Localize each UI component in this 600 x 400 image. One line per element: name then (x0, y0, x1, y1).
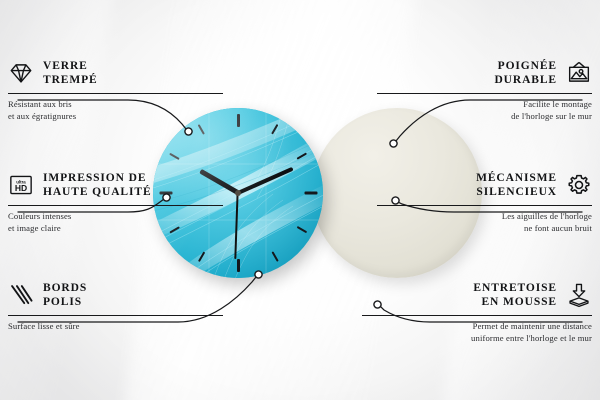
feature-title: IMPRESSION DE HAUTE QUALITÉ (43, 171, 152, 199)
feature-title-line2: SILENCIEUX (476, 186, 557, 198)
feature-verre-trempe[interactable]: VERRE TREMPÉ Résistant aux bris et aux é… (8, 56, 223, 122)
polished-edges-icon (8, 282, 34, 308)
feature-subtitle-line1: Permet de maintenir une distance (473, 321, 592, 331)
feature-mecanisme-silencieux[interactable]: MÉCANISME SILENCIEUX Les aiguilles de l'… (377, 168, 592, 234)
feature-title: VERRE TREMPÉ (43, 59, 98, 87)
feature-subtitle-line2: et aux égratignures (8, 111, 76, 121)
feature-subtitle: Résistant aux bris et aux égratignures (8, 98, 223, 122)
feature-divider (8, 315, 223, 316)
feature-title-line2: EN MOUSSE (481, 296, 557, 308)
feature-title-line2: POLIS (43, 296, 82, 308)
feature-subtitle-line1: Surface lisse et sûre (8, 321, 80, 331)
feature-header: POIGNÉE DURABLE (377, 56, 592, 90)
gear-icon (566, 172, 592, 198)
feature-title: ENTRETOISE EN MOUSSE (473, 281, 557, 309)
foam-spacer-icon (566, 282, 592, 308)
feature-header: ultra HD IMPRESSION DE HAUTE QUALITÉ (8, 168, 223, 202)
feature-subtitle-line1: Les aiguilles de l'horloge (502, 211, 592, 221)
clock-tick-12 (237, 114, 240, 127)
feature-title-line2: HAUTE QUALITÉ (43, 186, 152, 198)
feature-subtitle-line2: uniforme entre l'horloge et le mur (471, 333, 592, 343)
clock-tick-3 (304, 192, 317, 195)
hanging-frame-icon (566, 60, 592, 86)
feature-subtitle-line1: Résistant aux bris (8, 99, 72, 109)
feature-subtitle: Permet de maintenir une distance uniform… (362, 320, 592, 344)
feature-title: BORDS POLIS (43, 281, 87, 309)
feature-title: POIGNÉE DURABLE (494, 59, 557, 87)
feature-title: MÉCANISME SILENCIEUX (476, 171, 557, 199)
feature-header: BORDS POLIS (8, 278, 223, 312)
feature-subtitle: Facilite le montage de l'horloge sur le … (377, 98, 592, 122)
feature-header: VERRE TREMPÉ (8, 56, 223, 90)
feature-subtitle-line1: Facilite le montage (523, 99, 592, 109)
feature-title-line1: VERRE (43, 60, 88, 72)
feature-header: ENTRETOISE EN MOUSSE (362, 278, 592, 312)
clock-center-cap (235, 190, 241, 196)
feature-title-line1: ENTRETOISE (473, 282, 557, 294)
feature-title-line1: IMPRESSION DE (43, 172, 146, 184)
feature-divider (377, 93, 592, 94)
feature-subtitle: Couleurs intenses et image claire (8, 210, 223, 234)
feature-subtitle: Surface lisse et sûre (8, 320, 223, 332)
feature-poignee-durable[interactable]: POIGNÉE DURABLE Facilite le montage de l… (377, 56, 592, 122)
feature-subtitle-line2: de l'horloge sur le mur (511, 111, 592, 121)
feature-subtitle-line2: ne font aucun bruit (524, 223, 592, 233)
feature-divider (8, 205, 223, 206)
clock-tick-6 (237, 259, 240, 272)
feature-title-line1: BORDS (43, 282, 87, 294)
feature-divider (362, 315, 592, 316)
diamond-icon (8, 60, 34, 86)
feature-subtitle-line1: Couleurs intenses (8, 211, 71, 221)
svg-text:HD: HD (15, 183, 27, 193)
ultra-hd-icon: ultra HD (8, 172, 34, 198)
feature-title-line2: TREMPÉ (43, 74, 98, 86)
infographic-canvas: VERRE TREMPÉ Résistant aux bris et aux é… (0, 0, 600, 400)
feature-title-line2: DURABLE (494, 74, 557, 86)
feature-title-line1: POIGNÉE (498, 60, 557, 72)
feature-header: MÉCANISME SILENCIEUX (377, 168, 592, 202)
feature-divider (377, 205, 592, 206)
feature-entretoise-en-mousse[interactable]: ENTRETOISE EN MOUSSE Permet de maintenir… (362, 278, 592, 344)
feature-title-line1: MÉCANISME (476, 172, 557, 184)
feature-impression-haute-qualite[interactable]: ultra HD IMPRESSION DE HAUTE QUALITÉ Cou… (8, 168, 223, 234)
feature-subtitle-line2: et image claire (8, 223, 61, 233)
feature-subtitle: Les aiguilles de l'horloge ne font aucun… (377, 210, 592, 234)
feature-bords-polis[interactable]: BORDS POLIS Surface lisse et sûre (8, 278, 223, 332)
feature-divider (8, 93, 223, 94)
